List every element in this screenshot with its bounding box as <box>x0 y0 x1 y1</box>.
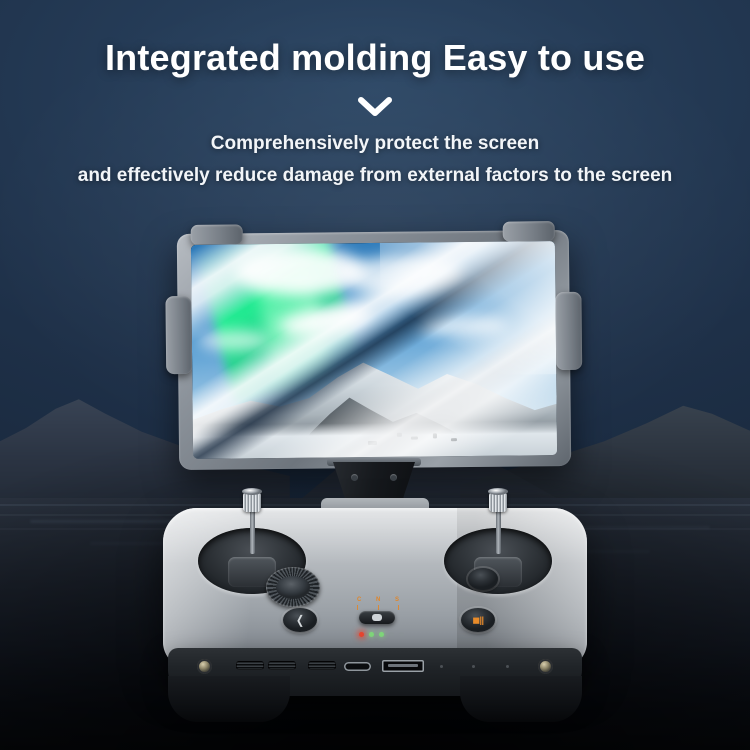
speaker-vent <box>236 661 264 670</box>
mode-label-s: S <box>395 597 399 603</box>
subtitle-line-1: Comprehensively protect the screen <box>0 133 750 155</box>
tablet-clamp-top-right <box>503 221 555 242</box>
back-chevron-icon: ❮ <box>296 614 304 626</box>
promo-banner: Integrated molding Easy to use Comprehen… <box>0 0 750 750</box>
microphone-hole <box>440 665 443 668</box>
return-to-home-button[interactable]: ◼|| <box>461 608 495 632</box>
battery-led-4 <box>399 632 404 637</box>
speaker-vent <box>308 661 336 670</box>
controller-grip-left <box>168 676 290 722</box>
screen-protector-glare <box>191 241 557 459</box>
mode-label-c: C <box>357 597 361 603</box>
flight-mode-switch-nub <box>372 614 382 621</box>
page-title: Integrated molding Easy to use <box>0 37 750 79</box>
screw-right <box>538 659 553 674</box>
camera-control-dial[interactable] <box>266 567 320 607</box>
microphone-hole <box>506 665 509 668</box>
tablet-clamp-left <box>165 296 192 374</box>
tablet-device <box>177 230 571 470</box>
usb-c-port[interactable] <box>344 662 371 671</box>
status-led-group <box>359 632 404 637</box>
tablet-clamp-right <box>555 292 582 370</box>
flight-mode-ticks <box>357 605 399 610</box>
battery-led-1 <box>369 632 374 637</box>
subtitle-line-2: and effectively reduce damage from exter… <box>0 165 750 187</box>
battery-led-2 <box>379 632 384 637</box>
tablet-clamp-top-left <box>191 224 243 245</box>
microphone-hole <box>472 665 475 668</box>
hdmi-port[interactable] <box>382 660 424 672</box>
joystick-right[interactable] <box>444 528 552 594</box>
speaker-vent <box>268 661 296 670</box>
battery-led-3 <box>389 632 394 637</box>
rth-icon: ◼|| <box>472 615 483 626</box>
tablet-screen <box>191 241 557 459</box>
back-button[interactable]: ❮ <box>283 608 317 632</box>
flight-mode-switch[interactable] <box>359 611 395 624</box>
controller-grip-right <box>460 676 582 722</box>
function-button[interactable] <box>468 568 498 590</box>
screw-left <box>197 659 212 674</box>
mode-label-n: N <box>376 597 380 603</box>
flight-mode-labels: C N S <box>357 597 399 603</box>
status-led-power <box>359 632 364 637</box>
chevron-down-icon <box>0 96 750 123</box>
